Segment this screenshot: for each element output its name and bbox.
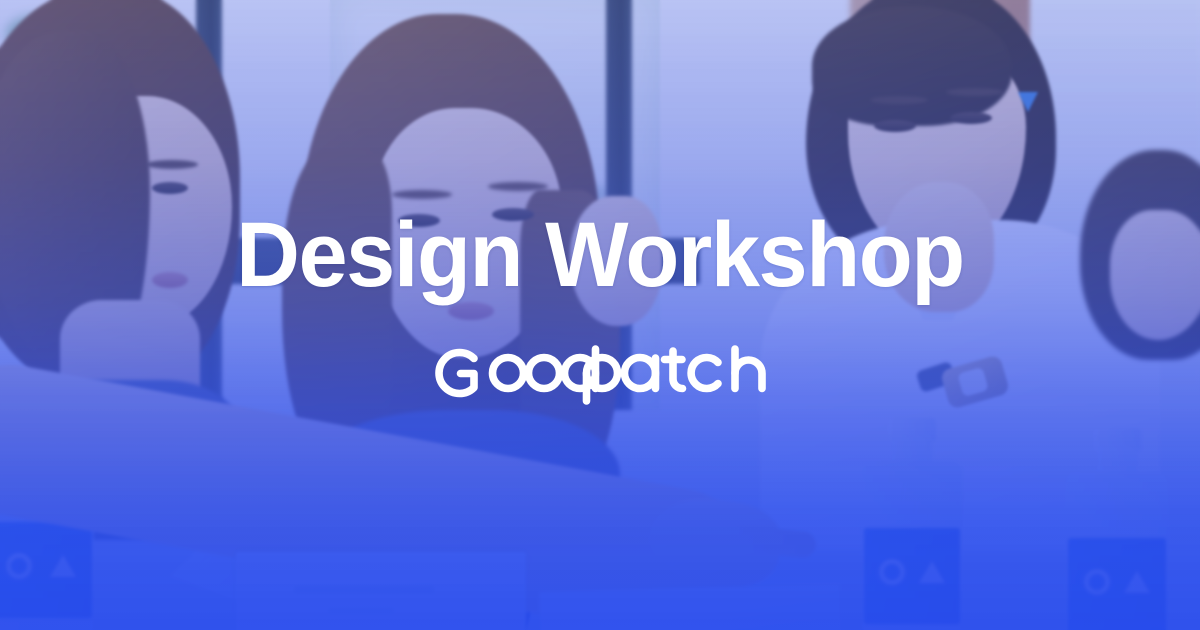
social-share-banner: Design Workshop	[0, 0, 1200, 630]
banner-content: Design Workshop	[0, 0, 1200, 630]
page-title: Design Workshop	[236, 209, 964, 301]
goodpatch-logo	[430, 343, 770, 407]
goodpatch-wordmark-logo-icon	[430, 343, 770, 407]
